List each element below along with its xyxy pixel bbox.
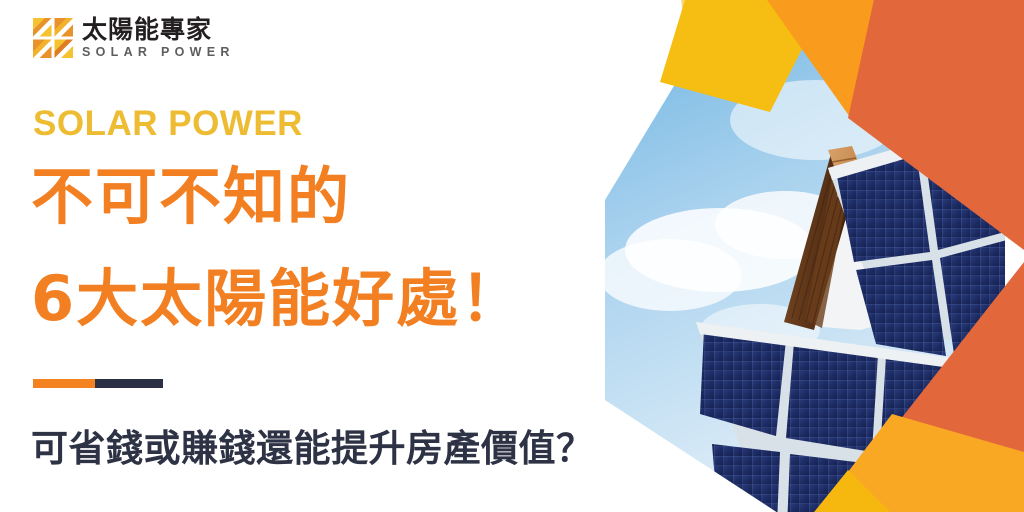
brand-logo-text: 太陽能專家 SOLAR POWER bbox=[82, 17, 235, 59]
brand-name-en: SOLAR POWER bbox=[82, 46, 235, 59]
divider-segment-orange bbox=[33, 379, 95, 388]
brand-name-cn: 太陽能專家 bbox=[82, 17, 235, 42]
hero-divider bbox=[33, 379, 163, 388]
divider-segment-navy bbox=[95, 379, 163, 388]
hero-subtitle: 可省錢或賺錢還能提升房產價值？ bbox=[31, 418, 594, 472]
solar-power-z-mark-icon bbox=[33, 18, 73, 58]
solar-power-promo-banner: 太陽能專家 SOLAR POWER SOLAR POWER 不可不知的 6大太陽… bbox=[0, 0, 1024, 512]
brand-logo[interactable]: 太陽能專家 SOLAR POWER bbox=[33, 17, 235, 59]
hero-headline-line-2: 6大太陽能好處！ bbox=[31, 268, 524, 330]
hero-headline-line-1: 不可不知的 bbox=[31, 166, 351, 228]
hero-eyebrow: SOLAR POWER bbox=[33, 104, 303, 144]
hero-artwork bbox=[600, 0, 1024, 512]
